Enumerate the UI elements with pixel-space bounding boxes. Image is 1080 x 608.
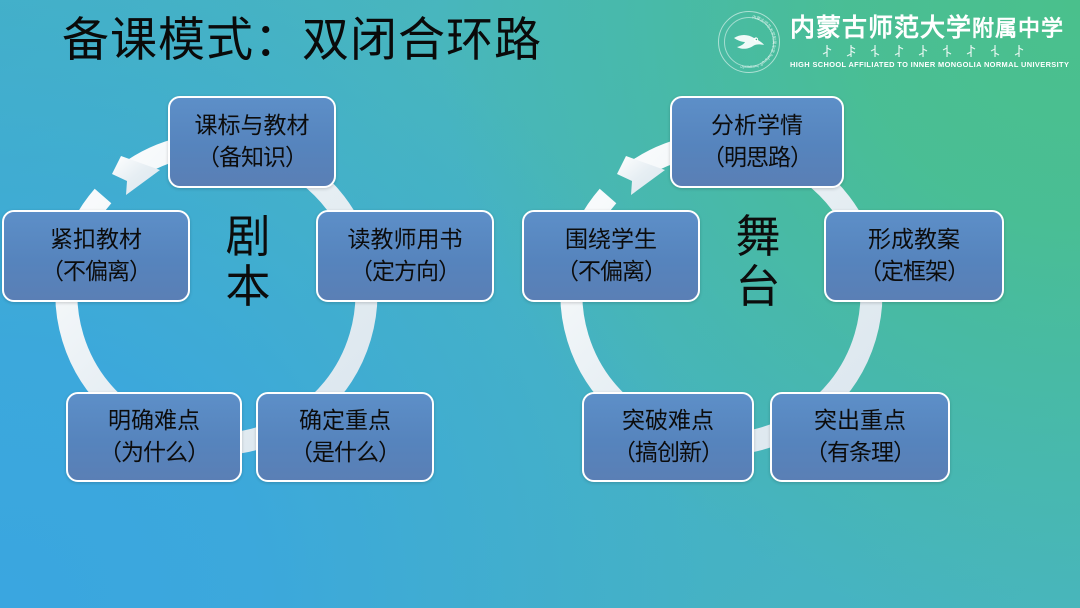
eagle-seal-icon: 内蒙古师范大学附属中学 ᠳᠤᠮᠳᠠᠳᠤ ᠰᠤᠷᠭᠠᠭᠤᠯᠢ	[718, 11, 780, 73]
node-left-left-cycle[interactable]: 紧扣教材 （不偏离）	[2, 210, 190, 302]
node-bottom-left-left-cycle[interactable]: 明确难点 （为什么）	[66, 392, 242, 482]
node-top-right-cycle[interactable]: 分析学情 （明思路）	[670, 96, 844, 188]
node-line1: 紧扣教材	[50, 224, 142, 256]
node-line1: 明确难点	[108, 405, 200, 437]
node-bottom-left-right-cycle[interactable]: 突破难点 （搞创新）	[582, 392, 754, 482]
node-bottom-right-right-cycle[interactable]: 突出重点 （有条理）	[770, 392, 950, 482]
node-line1: 形成教案	[868, 224, 960, 256]
node-line2: （明思路）	[702, 142, 812, 174]
node-top-left-cycle[interactable]: 课标与教材 （备知识）	[168, 96, 336, 188]
page-title: 备课模式：双闭合环路	[62, 8, 542, 74]
node-line1: 围绕学生	[565, 224, 657, 256]
cycle-diagram-right: 舞台 分析学情 （明思路） 围绕学生 （不偏离） 形成教案 （定框架） 突破难点…	[518, 96, 998, 496]
node-line2: （备知识）	[197, 142, 307, 174]
node-line2: （为什么）	[99, 437, 209, 469]
node-bottom-right-left-cycle[interactable]: 确定重点 （是什么）	[256, 392, 434, 482]
cycle-center-label-right: 舞台	[722, 212, 794, 312]
node-line2: （定框架）	[859, 256, 969, 288]
cycle-diagram-left: 剧本 课标与教材 （备知识） 紧扣教材 （不偏离） 读教师用书 （定方向） 明确…	[8, 96, 488, 496]
node-line2: （定方向）	[350, 256, 460, 288]
logo-text-block: 内蒙古师范大学附属中学 HIGH SCHOOL AFFILIATED TO IN…	[790, 16, 1064, 68]
logo-university-name: 内蒙古师范大学	[790, 15, 972, 42]
node-left-right-cycle[interactable]: 围绕学生 （不偏离）	[522, 210, 700, 302]
node-line1: 突破难点	[622, 405, 714, 437]
logo-name-cn: 内蒙古师范大学附属中学	[790, 16, 1064, 41]
slide-canvas: 备课模式：双闭合环路 内蒙古师范大学附属中学 ᠳᠤᠮᠳᠠᠳᠤ ᠰᠤᠷᠭᠠᠭᠤᠯᠢ…	[0, 0, 1080, 608]
node-line2: （搞创新）	[613, 437, 723, 469]
node-line1: 确定重点	[299, 405, 391, 437]
node-line1: 课标与教材	[195, 110, 310, 142]
node-line1: 读教师用书	[348, 224, 463, 256]
logo-name-en: HIGH SCHOOL AFFILIATED TO INNER MONGOLIA…	[790, 61, 1070, 68]
node-line2: （有条理）	[805, 437, 915, 469]
logo-school-suffix: 附属中学	[972, 16, 1064, 41]
school-logo: 内蒙古师范大学附属中学 ᠳᠤᠮᠳᠠᠳᠤ ᠰᠤᠷᠭᠠᠭᠤᠯᠢ 内蒙古师范大学附属中…	[718, 10, 1064, 74]
node-line2: （不偏离）	[556, 256, 666, 288]
node-line1: 分析学情	[711, 110, 803, 142]
node-line2: （不偏离）	[41, 256, 151, 288]
node-line1: 突出重点	[814, 405, 906, 437]
mongolian-script-icon	[790, 44, 1064, 59]
node-line2: （是什么）	[290, 437, 400, 469]
node-right-right-cycle[interactable]: 形成教案 （定框架）	[824, 210, 1004, 302]
cycle-center-label-left: 剧本	[212, 212, 284, 312]
node-right-left-cycle[interactable]: 读教师用书 （定方向）	[316, 210, 494, 302]
